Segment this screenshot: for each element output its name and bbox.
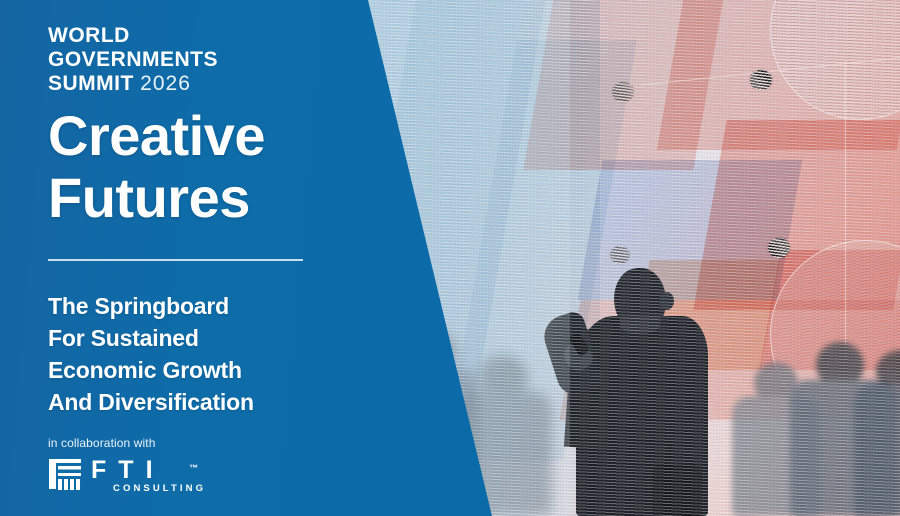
fti-letters: FTI™ bbox=[91, 458, 206, 482]
collaboration-label: in collaboration with bbox=[48, 436, 156, 450]
blurred-figure-right-2 bbox=[852, 350, 900, 516]
divider-rule bbox=[48, 259, 303, 261]
logo-year: 2026 bbox=[140, 72, 191, 95]
poster-canvas: WORLD GOVERNMENTS SUMMIT 2026 Creative F… bbox=[0, 0, 900, 516]
fti-letter-i: I bbox=[146, 456, 165, 484]
poster-content: WORLD GOVERNMENTS SUMMIT 2026 Creative F… bbox=[48, 0, 368, 516]
logo-summit-text: SUMMIT bbox=[48, 72, 134, 95]
summit-logo: WORLD GOVERNMENTS SUMMIT 2026 bbox=[48, 24, 218, 96]
man-collar bbox=[620, 316, 660, 334]
fti-consulting-logo: FTI™ CONSULTING bbox=[48, 458, 206, 490]
subtitle-line-3: Economic Growth bbox=[48, 354, 254, 386]
logo-line-governments: GOVERNMENTS bbox=[48, 48, 218, 72]
subtitle-line-2: For Sustained bbox=[48, 322, 254, 354]
fti-trademark: ™ bbox=[189, 456, 210, 480]
page-title: Creative Futures bbox=[48, 105, 265, 229]
subtitle-line-1: The Springboard bbox=[48, 290, 254, 322]
title-line-2: Futures bbox=[48, 167, 265, 229]
fti-letter-f: F bbox=[91, 456, 118, 484]
logo-line-summit: SUMMIT 2026 bbox=[48, 72, 218, 96]
page-subtitle: The Springboard For Sustained Economic G… bbox=[48, 290, 254, 418]
subtitle-line-4: And Diversification bbox=[48, 386, 254, 418]
fti-consulting-text: CONSULTING bbox=[91, 483, 206, 495]
fti-column-icon bbox=[48, 458, 82, 490]
logo-line-world: WORLD bbox=[48, 24, 218, 48]
fti-letter-t: T bbox=[118, 456, 145, 484]
briefcase bbox=[652, 464, 702, 516]
fti-wordmark: FTI™ CONSULTING bbox=[91, 458, 206, 490]
man-ear bbox=[660, 292, 674, 310]
title-line-1: Creative bbox=[48, 105, 265, 167]
